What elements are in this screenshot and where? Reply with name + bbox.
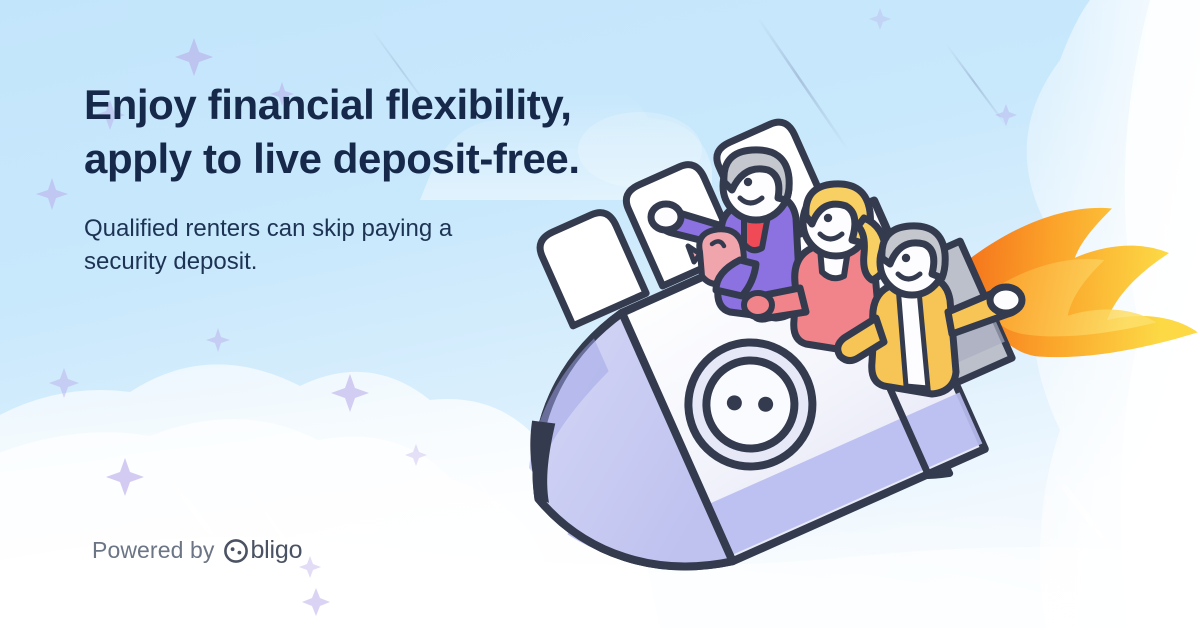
subheadline: Qualified renters can skip paying a secu…	[84, 212, 684, 278]
text-column: Enjoy financial flexibility, apply to li…	[84, 78, 684, 278]
promo-banner: Enjoy financial flexibility, apply to li…	[0, 0, 1200, 628]
powered-by-label: Powered by	[92, 537, 214, 564]
obligo-circle-two-dots-icon	[223, 538, 249, 564]
powered-by-obligo: Powered by bligo	[92, 536, 302, 565]
brand-name: bligo	[250, 536, 302, 565]
headline: Enjoy financial flexibility, apply to li…	[84, 78, 684, 186]
obligo-logo: bligo	[223, 536, 302, 565]
